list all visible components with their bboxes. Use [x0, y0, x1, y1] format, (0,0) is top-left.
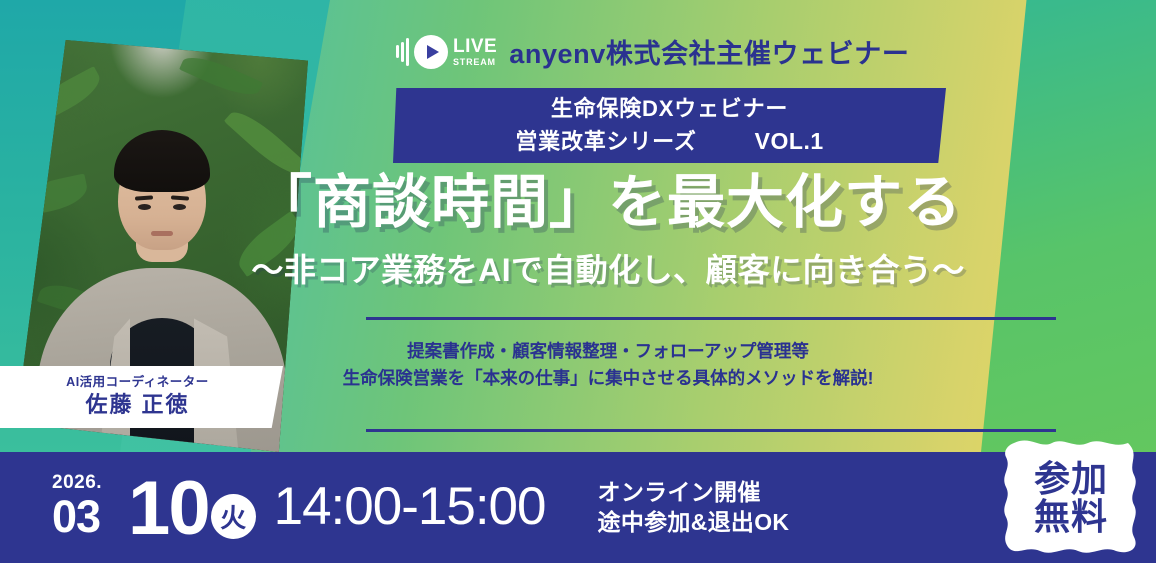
series-line-1: 生命保険DXウェビナー — [551, 93, 788, 125]
webinar-banner: AI活用コーディネーター 佐藤 正徳 LIVE STREAM anyenv株式会… — [0, 0, 1156, 563]
speaker-name: 佐藤 正徳 — [85, 391, 189, 419]
schedule-bar: 2026. 03 10 火 14:00-15:00 オンライン開催 途中参加&退… — [0, 452, 1156, 563]
badge-text: 参加 無料 — [1034, 460, 1108, 536]
free-participation-badge: 参加 無料 — [1000, 437, 1142, 559]
venue-line-2: 途中参加&退出OK — [598, 508, 790, 538]
subheadline: 〜非コア業務をAIで自動化し、顧客に向き合う〜 — [0, 254, 1156, 286]
broadcast-waves-icon — [396, 38, 409, 66]
live-stream-label: LIVE STREAM — [453, 37, 497, 67]
description: 提案書作成・顧客情報整理・フォローアップ管理等 生命保険営業を「本来の仕事」に集… — [0, 338, 1156, 392]
venue-info: オンライン開催 途中参加&退出OK — [598, 478, 790, 538]
series-volume: VOL.1 — [755, 125, 824, 158]
time-range: 14:00-15:00 — [274, 476, 546, 537]
live-label: LIVE — [453, 37, 497, 56]
year: 2026. — [52, 473, 102, 492]
headline: 「商談時間」を最大化する — [0, 174, 1156, 232]
month: 03 — [52, 494, 102, 539]
badge-line-1: 参加 — [1034, 460, 1108, 498]
date-block: 2026. 03 10 火 14:00-15:00 — [52, 473, 546, 543]
live-stream-header: LIVE STREAM anyenv株式会社主催ウェビナー — [396, 32, 909, 71]
divider-bottom — [366, 429, 1056, 432]
description-line-2: 生命保険営業を「本来の仕事」に集中させる具体的メソッドを解説! — [60, 365, 1156, 392]
badge-line-2: 無料 — [1034, 498, 1108, 536]
live-stream-badge: LIVE STREAM — [396, 35, 497, 69]
stream-label: STREAM — [453, 58, 497, 67]
day: 10 — [128, 476, 209, 543]
series-banner: 生命保険DXウェビナー 営業改革シリーズ VOL.1 — [393, 88, 946, 163]
play-icon — [414, 35, 448, 69]
description-line-1: 提案書作成・顧客情報整理・フォローアップ管理等 — [60, 338, 1156, 365]
venue-line-1: オンライン開催 — [598, 478, 790, 508]
year-month: 2026. 03 — [52, 473, 102, 539]
divider-top — [366, 317, 1056, 320]
day-of-week-badge: 火 — [211, 494, 256, 539]
series-line-2-row: 営業改革シリーズ VOL.1 — [515, 125, 823, 158]
series-line-2: 営業改革シリーズ — [515, 126, 696, 158]
host-title: anyenv株式会社主催ウェビナー — [509, 32, 909, 71]
